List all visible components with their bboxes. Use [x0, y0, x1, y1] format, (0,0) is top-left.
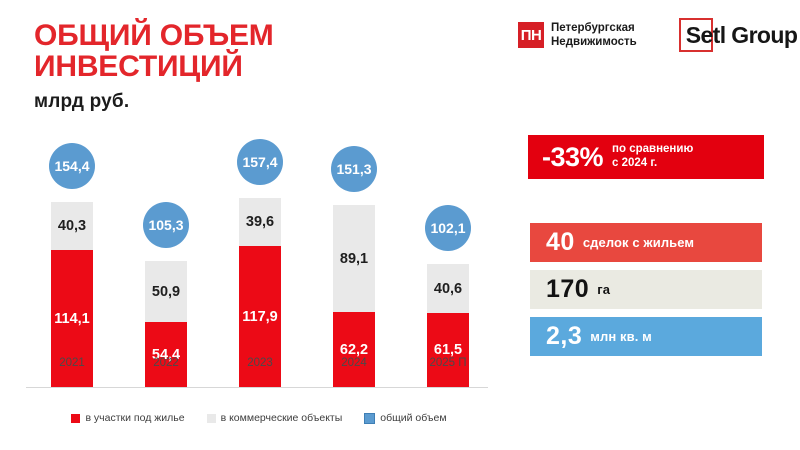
stat-card-change: -33% по сравнению с 2024 г. — [528, 135, 764, 179]
page-title: ОБЩИЙ ОБЪЕМ ИНВЕСТИЦИЙ млрд руб. — [34, 20, 494, 113]
legend-swatch-icon — [364, 413, 375, 424]
setl-group-logo: Setl Group — [679, 22, 798, 49]
bar-total-bubble[interactable]: 105,3 — [143, 202, 189, 248]
legend-item[interactable]: в участки под жилье — [71, 412, 184, 424]
stat-deals-unit: сделок с жильем — [583, 235, 694, 250]
stat-area-value: 170 — [546, 275, 589, 304]
stat-sqm-unit: млн кв. м — [590, 329, 652, 344]
title-units: млрд руб. — [34, 91, 494, 113]
stat-card-deals: 40 сделок с жильем — [530, 223, 762, 262]
bar-segment-commercial[interactable]: 40,3 — [51, 202, 93, 250]
bar-total-bubble[interactable]: 154,4 — [49, 143, 95, 189]
setl-logo-text: Setl Group — [679, 22, 798, 49]
legend-item[interactable]: в коммерческие объекты — [207, 412, 343, 424]
stat-card-area: 170 га — [530, 270, 762, 309]
bar-total-bubble[interactable]: 157,4 — [237, 139, 283, 185]
bar-total-bubble[interactable]: 102,1 — [425, 205, 471, 251]
legend-label: общий объем — [380, 412, 446, 424]
x-axis-label: 2021 — [37, 357, 107, 369]
legend-label: в участки под жилье — [85, 412, 184, 424]
legend-item[interactable]: общий объем — [364, 412, 446, 424]
bar-segment-residential[interactable]: 54,4 — [145, 322, 187, 387]
pn-logo-line-2: Недвижимость — [551, 35, 637, 49]
bar-total-bubble[interactable]: 151,3 — [331, 146, 377, 192]
pn-monogram-icon: ПН — [518, 22, 544, 48]
x-axis-label: 2024 — [319, 357, 389, 369]
stat-card-sqm: 2,3 млн кв. м — [530, 317, 762, 356]
bar-segment-commercial[interactable]: 89,1 — [333, 205, 375, 312]
pn-logo-line-1: Петербургская — [551, 21, 637, 35]
petersburg-realty-logo: ПН Петербургская Недвижимость — [518, 21, 637, 50]
bar-segment-commercial[interactable]: 39,6 — [239, 198, 281, 246]
stat-change-note-line-2: с 2024 г. — [612, 157, 693, 171]
stat-sqm-value: 2,3 — [546, 322, 582, 351]
logo-bar: ПН Петербургская Недвижимость Setl Group — [518, 21, 797, 50]
x-axis-label: 2025 П — [413, 357, 483, 369]
pn-logo-text: Петербургская Недвижимость — [551, 21, 637, 50]
bar-segment-residential[interactable]: 62,2 — [333, 312, 375, 387]
chart-baseline-axis — [26, 387, 488, 388]
stat-change-value: -33% — [542, 142, 603, 173]
legend-label: в коммерческие объекты — [221, 412, 343, 424]
legend-swatch-icon — [207, 414, 216, 423]
bar-segment-residential[interactable]: 61,5 — [427, 313, 469, 387]
investment-volume-chart: 40,3114,1154,4202150,954,4105,3202239,61… — [24, 128, 494, 428]
stat-change-note: по сравнению с 2024 г. — [612, 143, 693, 170]
stat-deals-value: 40 — [546, 228, 575, 257]
x-axis-label: 2022 — [131, 357, 201, 369]
bar-segment-commercial[interactable]: 40,6 — [427, 264, 469, 313]
legend-swatch-icon — [71, 414, 80, 423]
bar-segment-commercial[interactable]: 50,9 — [145, 261, 187, 322]
stat-area-unit: га — [597, 282, 610, 297]
chart-legend: в участки под жильев коммерческие объект… — [24, 412, 494, 424]
x-axis-label: 2023 — [225, 357, 295, 369]
title-line-1: ОБЩИЙ ОБЪЕМ — [34, 20, 494, 51]
stat-change-note-line-1: по сравнению — [612, 143, 693, 157]
title-line-2: ИНВЕСТИЦИЙ — [34, 51, 494, 82]
